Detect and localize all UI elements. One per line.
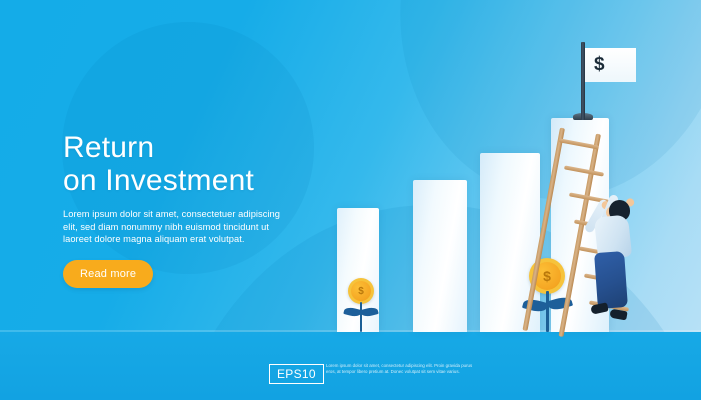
eps10-badge: EPS10 (269, 364, 324, 384)
flag-pole (581, 42, 585, 120)
coin-plant-small: $ (341, 278, 381, 332)
bar-chart-column-2 (413, 180, 467, 332)
plant-leaf-left (343, 306, 361, 318)
person-climbing-ladder (582, 192, 642, 332)
dollar-sign-icon: $ (594, 54, 605, 76)
plant-stem (546, 291, 549, 332)
flag-banner (584, 48, 636, 82)
ladder-rung (559, 138, 599, 149)
ladder-rung (564, 165, 604, 176)
gold-coin-icon: $ (348, 278, 374, 304)
headline-line-1: Return (63, 131, 154, 164)
hero-body-text: Lorem ipsum dolor sit amet, consectetuer… (63, 208, 281, 246)
coin-dollar-label: $ (351, 281, 371, 301)
page-title: Return on Investment (63, 131, 303, 197)
read-more-button[interactable]: Read more (63, 260, 153, 288)
roi-banner: $ $ $ (0, 0, 701, 400)
hero-copy-block: Return on Investment Lorem ipsum dolor s… (63, 131, 303, 288)
plant-stem (360, 302, 362, 332)
person-shoe (609, 309, 627, 321)
footer-fine-print: Lorem ipsum dolor sit amet, consectetur … (326, 363, 476, 375)
person-shoe (590, 302, 608, 314)
plant-leaf-right (360, 306, 378, 318)
headline-line-2: on Investment (63, 164, 254, 197)
